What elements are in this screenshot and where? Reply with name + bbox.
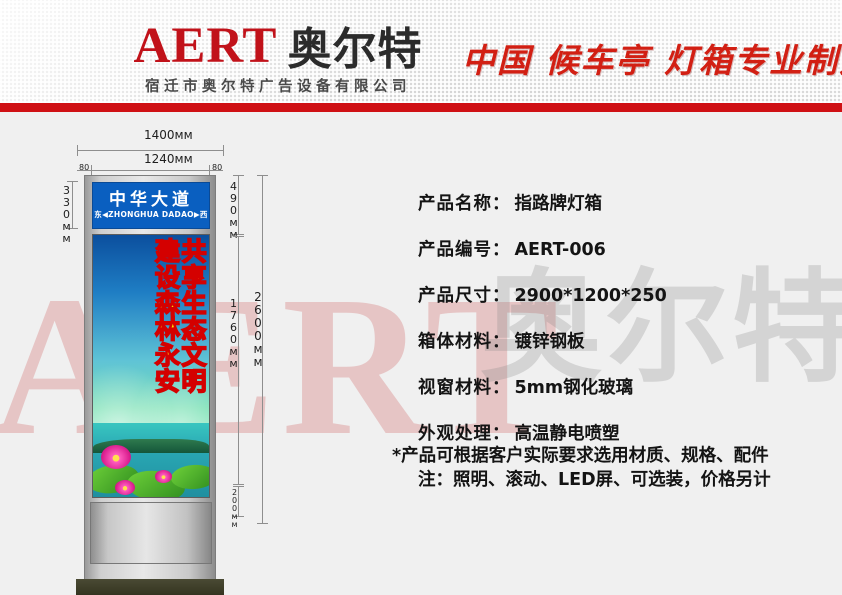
spec-label: 视窗材料： xyxy=(418,374,511,399)
header-red-divider xyxy=(0,103,842,112)
spec-row-cabinet-material: 箱体材料： 镀锌钢板 xyxy=(418,328,828,353)
dim-tick xyxy=(77,145,78,156)
poster-slogan-line-left: 建设森林永安 xyxy=(153,238,179,488)
dim-tick xyxy=(257,523,268,524)
dim-right-1760-label: 1760мм xyxy=(227,297,240,369)
spec-value: 指路牌灯箱 xyxy=(515,190,603,215)
spec-row-window-material: 视窗材料： 5mm钢化玻璃 xyxy=(418,374,828,399)
dim-tick xyxy=(233,486,244,487)
brand-logo: AERT 奥尔特 宿迁市奥尔特广告设备有限公司 xyxy=(118,22,438,96)
lotus-flower xyxy=(101,445,131,469)
spec-value: 5mm钢化玻璃 xyxy=(515,374,634,399)
spec-label: 产品尺寸： xyxy=(418,282,511,307)
poster-slogan: 共享生态文明 建设森林永安 xyxy=(153,238,205,488)
spec-options-note: 注：照明、滚动、LED屏、可选装，价格另计 xyxy=(418,466,828,491)
poster-slogan-line-right: 共享生态文明 xyxy=(180,238,206,488)
spec-value: 2900*1200*250 xyxy=(515,286,667,306)
dim-tick xyxy=(233,175,244,176)
cabinet-frame: 中华大道 东◀ZHONGHUA DADAO▶西 共享生态文明 建设森林永 xyxy=(84,175,216,592)
cabinet-plinth xyxy=(76,579,224,595)
lotus-flower xyxy=(115,480,135,495)
dim-right-200-label: 200мм xyxy=(230,488,239,528)
logo-chinese-text: 奥尔特 xyxy=(287,29,422,71)
lightbox-cabinet: 中华大道 东◀ZHONGHUA DADAO▶西 共享生态文明 建设森林永 xyxy=(84,175,216,595)
dim-tick xyxy=(233,484,244,485)
technical-drawing: 1400мм 1240мм 80 80 330мм 490мм 1760мм xyxy=(0,112,360,595)
dim-tick xyxy=(67,181,78,182)
spec-label: 箱体材料： xyxy=(418,328,511,353)
content-area: AERT 奥尔特 1400мм 1240мм 80 80 330мм 490мм… xyxy=(0,112,842,595)
logo-latin-text: AERT xyxy=(134,22,278,70)
dim-right-490-label: 490мм xyxy=(227,180,240,240)
cabinet-base-panel xyxy=(90,502,212,564)
dim-top-outer-label: 1400мм xyxy=(144,128,193,142)
dim-left-80-line xyxy=(77,170,91,171)
spec-row-product-name: 产品名称： 指路牌灯箱 xyxy=(418,190,828,215)
dim-right-2600-label: 2600мм xyxy=(251,290,265,368)
dim-left-330-label: 330мм xyxy=(60,184,73,244)
dim-top-inner-line xyxy=(91,170,209,171)
dim-tick xyxy=(223,145,224,156)
street-sign-main-text: 中华大道 xyxy=(109,192,193,209)
spec-label: 产品编号： xyxy=(418,236,511,261)
dim-top-outer-line xyxy=(77,150,223,151)
spec-value: 镀锌钢板 xyxy=(515,328,585,353)
header-slogan: 中国 候车亭 灯箱专业制造商 xyxy=(462,34,842,82)
street-sign-panel: 中华大道 东◀ZHONGHUA DADAO▶西 xyxy=(92,182,210,229)
logo-row: AERT 奥尔特 xyxy=(118,22,438,70)
spec-footnote: *产品可根据客户实际要求选用材质、规格、配件 xyxy=(392,442,769,467)
dim-right-80-line xyxy=(209,170,223,171)
spec-label: 产品名称： xyxy=(418,190,511,215)
dim-tick xyxy=(257,175,268,176)
spec-value: AERT-006 xyxy=(515,240,606,260)
spec-row-product-size: 产品尺寸： 2900*1200*250 xyxy=(418,282,828,307)
page-header: AERT 奥尔特 宿迁市奥尔特广告设备有限公司 中国 候车亭 灯箱专业制造商 xyxy=(0,0,842,103)
poster-panel: 共享生态文明 建设森林永安 xyxy=(92,234,210,498)
dim-top-inner-label: 1240мм xyxy=(144,152,193,166)
street-sign-sub-text: 东◀ZHONGHUA DADAO▶西 xyxy=(94,211,207,219)
dim-tick xyxy=(233,236,244,237)
company-name: 宿迁市奥尔特广告设备有限公司 xyxy=(118,75,438,96)
spec-row-product-code: 产品编号： AERT-006 xyxy=(418,236,828,261)
